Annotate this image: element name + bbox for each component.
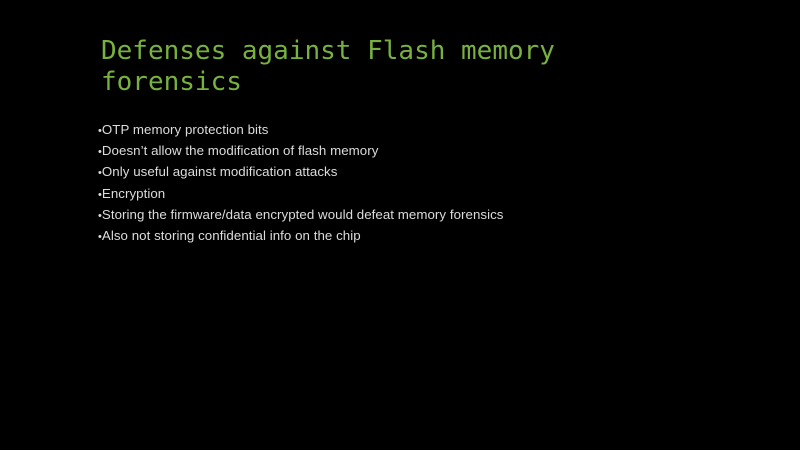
list-item: •Doesn’t allow the modification of flash… xyxy=(98,141,738,162)
list-item: •Only useful against modification attack… xyxy=(98,162,738,183)
list-item: •Also not storing confidential info on t… xyxy=(98,226,738,247)
list-item-label: OTP memory protection bits xyxy=(102,122,269,137)
list-item-label: Only useful against modification attacks xyxy=(102,164,338,179)
bullet-list: •OTP memory protection bits •Doesn’t all… xyxy=(98,120,738,247)
list-item: •Encryption xyxy=(98,184,738,205)
list-item-label: Also not storing confidential info on th… xyxy=(102,228,361,243)
list-item-label: Doesn’t allow the modification of flash … xyxy=(102,143,378,158)
list-item: •Storing the firmware/data encrypted wou… xyxy=(98,205,738,226)
list-item-label: Storing the firmware/data encrypted woul… xyxy=(102,207,504,222)
page-title: Defenses against Flash memory forensics xyxy=(101,36,621,98)
slide-canvas: Defenses against Flash memory forensics … xyxy=(0,0,800,450)
list-item: •OTP memory protection bits xyxy=(98,120,738,141)
list-item-label: Encryption xyxy=(102,186,165,201)
